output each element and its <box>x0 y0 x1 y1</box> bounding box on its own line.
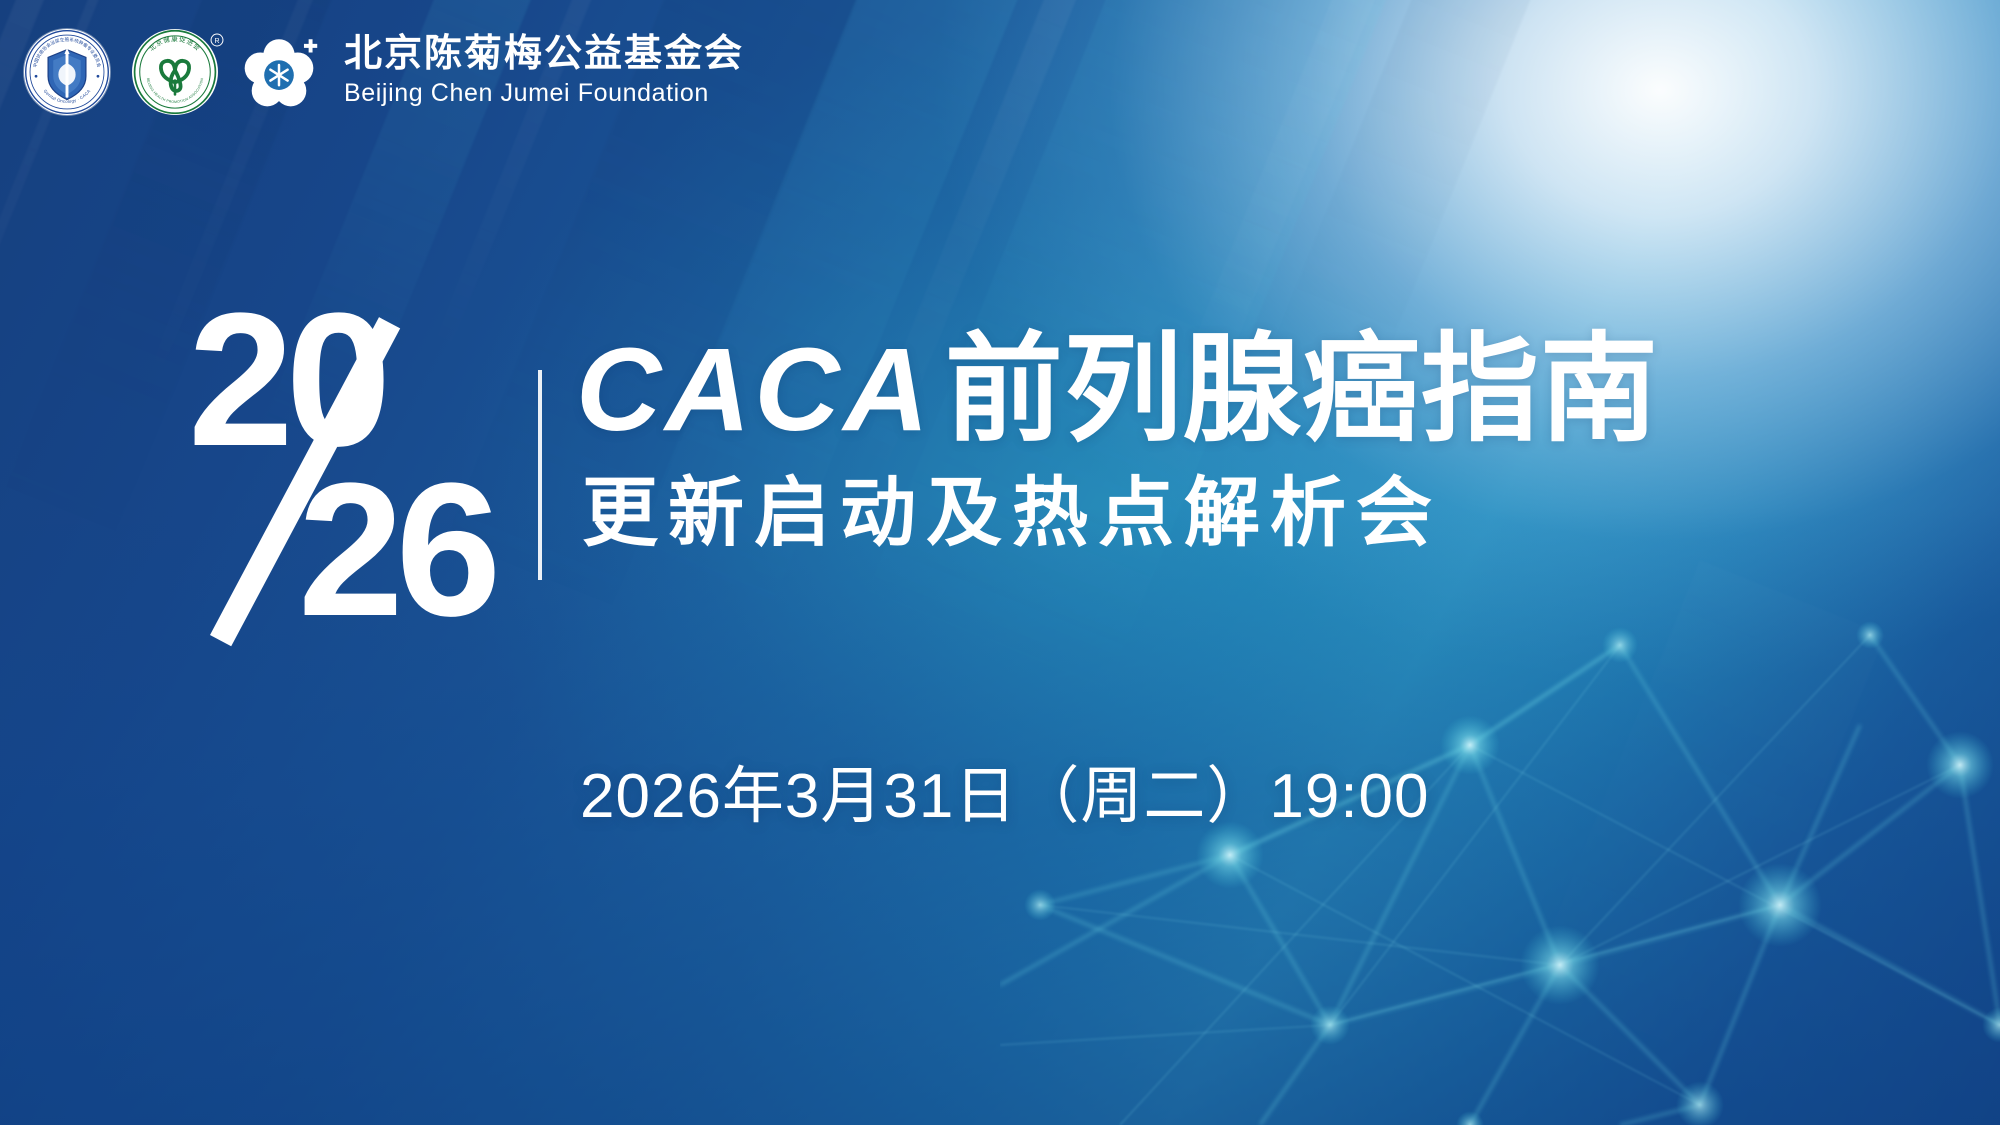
poster-canvas: 中国抗癌协会泌尿生殖系统肿瘤专业委员会 Genital Oncology · C… <box>0 0 2000 1125</box>
foundation-name-block: 北京陈菊梅公益基金会 Beijing Chen Jumei Foundation <box>344 35 744 109</box>
subtitle-line: 更新启动及热点解析会 <box>582 472 1659 556</box>
year-bottom-digits: 26 <box>298 455 493 645</box>
caca-genital-oncology-logo: 中国抗癌协会泌尿生殖系统肿瘤专业委员会 Genital Oncology · C… <box>24 29 110 115</box>
beijing-health-promotion-association-logo: 北京健康促进会 BEIJING HEALTH PROMOTION ASSOCIA… <box>132 29 218 115</box>
event-datetime: 2026年3月31日（周二）19:00 <box>580 745 1430 835</box>
network-plexus-graphic <box>1000 605 2000 1125</box>
foundation-name-cn: 北京陈菊梅公益基金会 <box>344 35 744 75</box>
header-logo-bar: 中国抗癌协会泌尿生殖系统肿瘤专业委员会 Genital Oncology · C… <box>24 26 744 118</box>
main-title-line: CACA前列腺癌指南 <box>576 330 1659 450</box>
title-headings: CACA前列腺癌指南 更新启动及热点解析会 <box>576 285 1659 556</box>
main-title-latin: CACA <box>576 324 945 456</box>
registered-trademark-icon: R <box>210 33 224 47</box>
svg-text:R: R <box>214 38 219 45</box>
main-title-cn: 前列腺癌指南 <box>945 324 1659 456</box>
foundation-name-en: Beijing Chen Jumei Foundation <box>344 78 744 109</box>
caca-seal-icon: 中国抗癌协会泌尿生殖系统肿瘤专业委员会 Genital Oncology · C… <box>24 29 110 115</box>
year-2026-mark: 20 26 <box>180 285 510 625</box>
main-title-block: 20 26 CACA前列腺癌指南 更新启动及热点解析会 <box>180 285 1659 625</box>
bhpa-seal-icon: 北京健康促进会 BEIJING HEALTH PROMOTION ASSOCIA… <box>132 29 218 115</box>
title-vertical-divider <box>538 370 542 580</box>
plum-blossom-icon <box>240 33 318 111</box>
